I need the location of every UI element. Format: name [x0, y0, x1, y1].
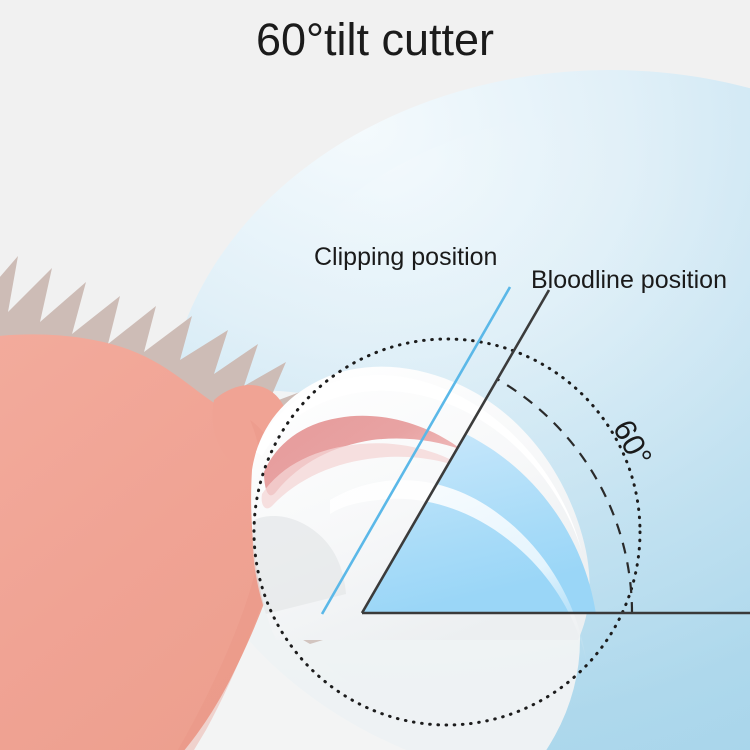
cutter-angle-diagram: [0, 0, 750, 750]
bloodline-position-label: Bloodline position: [531, 266, 727, 295]
illustration-canvas: 60°tilt cutter Clipping position Bloodli…: [0, 0, 750, 750]
page-title: 60°tilt cutter: [0, 14, 750, 66]
clipping-position-label: Clipping position: [314, 243, 497, 272]
